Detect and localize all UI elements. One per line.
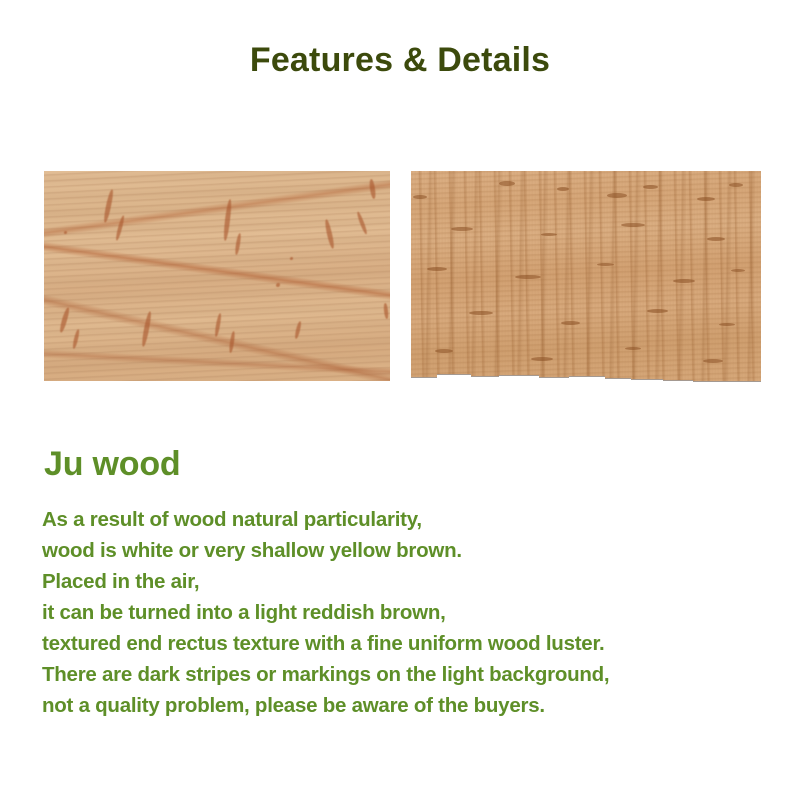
wood-grain-fleck	[59, 307, 71, 333]
wood-ray-fleck	[435, 349, 453, 353]
wood-ray-fleck	[647, 309, 668, 313]
wood-grain-fleck	[115, 215, 125, 241]
wood-ray-fleck	[499, 181, 515, 186]
wood-grain-fleck	[234, 233, 241, 255]
wood-ray-fleck	[621, 223, 645, 227]
wood-grain-fleck	[141, 311, 152, 347]
wood-grain-fleck	[229, 331, 236, 353]
wood-sample-left-image	[44, 171, 390, 381]
wood-ray-fleck	[625, 347, 641, 350]
wood-ray-fleck	[561, 321, 580, 325]
wood-grain-fleck	[223, 199, 232, 241]
product-detail-page: Features & Details	[0, 0, 800, 800]
wood-ray-fleck	[729, 183, 743, 187]
wood-ray-fleck	[427, 267, 447, 271]
wood-ray-fleck	[597, 263, 614, 266]
wood-grain-fleck	[368, 179, 376, 200]
wood-ray-fleck	[413, 195, 427, 199]
wood-ray-fleck	[607, 193, 627, 198]
description-line: wood is white or very shallow yellow bro…	[42, 535, 772, 566]
wood-grain-fleck	[294, 321, 302, 339]
description-line: not a quality problem, please be aware o…	[42, 690, 772, 721]
wood-ray-fleck	[643, 185, 658, 189]
wood-ray-fleck	[719, 323, 735, 326]
wood-sample-right-image	[411, 171, 761, 383]
wood-grain-fleck	[214, 313, 222, 337]
description-line: textured end rectus texture with a fine …	[42, 628, 772, 659]
wood-grain-fleck	[72, 329, 80, 349]
wood-grain-fleck	[383, 303, 389, 319]
wood-ray-fleck	[673, 279, 695, 283]
description-line: it can be turned into a light reddish br…	[42, 597, 772, 628]
wood-ray-fleck	[541, 233, 557, 236]
wood-ray-fleck	[703, 359, 723, 363]
description-line: Placed in the air,	[42, 566, 772, 597]
wood-grain-fleck	[64, 231, 67, 234]
wood-grain-fleck	[290, 257, 293, 260]
wood-grain-fleck	[323, 219, 335, 249]
wood-ray-fleck	[697, 197, 715, 201]
wood-grain-fleck	[276, 283, 280, 287]
description-line: There are dark stripes or markings on th…	[42, 659, 772, 690]
description-line: As a result of wood natural particularit…	[42, 504, 772, 535]
wood-ray-fleck	[531, 357, 553, 361]
wood-grain-fleck	[103, 189, 114, 223]
wood-type-heading: Ju wood	[44, 443, 180, 485]
wood-ray-fleck	[469, 311, 493, 315]
wood-grain-fleck	[356, 211, 369, 235]
wood-ray-fleck	[515, 275, 541, 279]
wood-ray-fleck	[451, 227, 473, 231]
wood-ray-fleck	[707, 237, 725, 241]
description-block: As a result of wood natural particularit…	[42, 504, 772, 721]
wood-ray-fleck	[731, 269, 745, 272]
page-title: Features & Details	[0, 40, 800, 80]
wood-ray-fleck	[557, 187, 569, 191]
